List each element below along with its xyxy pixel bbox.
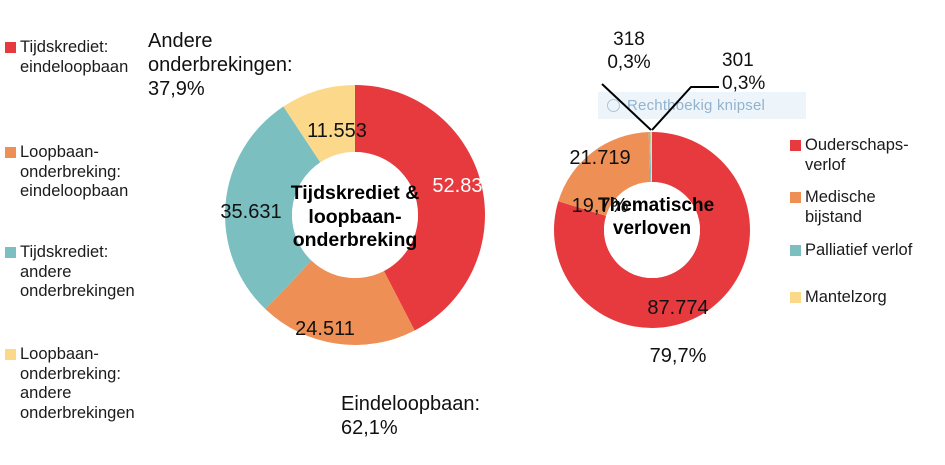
slice-value-tijdskrediet-andere: 35.631 xyxy=(203,200,299,224)
legend-item-tijdskrediet-andere[interactable]: Tijdskrediet: andere onderbrekingen xyxy=(5,243,155,302)
legend-swatch-teal xyxy=(790,245,801,256)
leader-line-301 xyxy=(652,87,719,130)
slice-value-percent: 19,7% xyxy=(540,194,660,218)
legend-swatch-red xyxy=(5,42,16,53)
slice-value-number: 87.774 xyxy=(613,296,743,320)
legend-label: Tijdskrediet: andere onderbrekingen xyxy=(20,243,135,302)
legend-swatch-orange xyxy=(5,147,16,158)
legend-item-loopbaanonderbreking-andere[interactable]: Loopbaan- onderbreking: andere onderbrek… xyxy=(5,345,157,423)
slice-value-tijdskrediet-eindeloopbaan: 52.838 xyxy=(415,174,511,198)
group-label-eindeloopbaan: Eindeloopbaan: 62,1% xyxy=(341,392,531,440)
legend-label: Medische bijstand xyxy=(805,188,876,227)
legend-item-medische-bijstand[interactable]: Medische bijstand xyxy=(790,188,940,227)
chart-canvas: Tijdskrediet: eindeloopbaan Loopbaan- on… xyxy=(0,0,945,465)
slice-value-loopbaanonderbreking-andere: 11.553 xyxy=(289,119,385,143)
legend-label: Mantelzorg xyxy=(805,288,887,308)
legend-label: Loopbaan- onderbreking: andere onderbrek… xyxy=(20,345,135,423)
legend-swatch-yellow xyxy=(790,292,801,303)
callout-value-mantelzorg: 301 0,3% xyxy=(722,50,812,95)
legend-item-tijdskrediet-eindeloopbaan[interactable]: Tijdskrediet: eindeloopbaan xyxy=(5,38,155,77)
legend-label: Ouderschaps- verlof xyxy=(805,136,909,175)
legend-swatch-red xyxy=(790,140,801,151)
slice-value-number: 21.719 xyxy=(540,146,660,170)
legend-item-loopbaanonderbreking-eindeloopbaan[interactable]: Loopbaan- onderbreking: eindeloopbaan xyxy=(5,143,155,202)
slice-value-loopbaanonderbreking-eindeloopbaan: 24.511 xyxy=(277,317,373,341)
legend-label: Palliatief verlof xyxy=(805,241,912,261)
group-label-andere-onderbrekingen: Andere onderbrekingen: 37,9% xyxy=(148,29,328,101)
slice-value-percent: 79,7% xyxy=(613,344,743,368)
legend-item-ouderschapsverlof[interactable]: Ouderschaps- verlof xyxy=(790,136,940,175)
legend-swatch-orange xyxy=(790,192,801,203)
callout-value-palliatief-verlof: 318 0,3% xyxy=(584,29,674,74)
legend-swatch-yellow xyxy=(5,349,16,360)
legend-label: Tijdskrediet: eindeloopbaan xyxy=(20,38,128,77)
slice-value-medische-bijstand: 21.719 19,7% xyxy=(540,122,660,242)
legend-label: Loopbaan- onderbreking: eindeloopbaan xyxy=(20,143,128,202)
legend-item-palliatief-verlof[interactable]: Palliatief verlof xyxy=(790,241,945,261)
slice-value-ouderschapsverlof: 87.774 79,7% xyxy=(613,272,743,392)
legend-item-mantelzorg[interactable]: Mantelzorg xyxy=(790,288,940,308)
legend-swatch-teal xyxy=(5,247,16,258)
